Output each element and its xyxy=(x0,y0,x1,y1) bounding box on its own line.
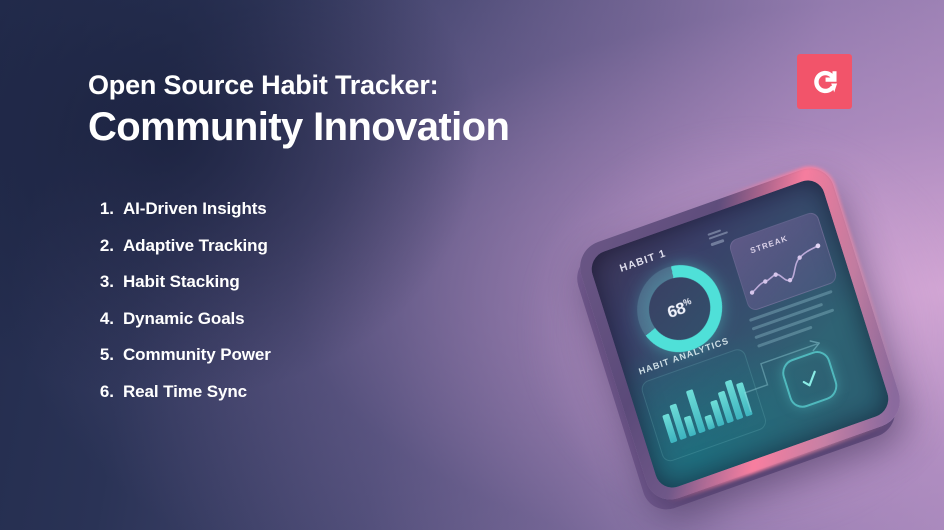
habit-title: HABIT 1 xyxy=(618,247,667,275)
content-placeholder-lines xyxy=(749,287,850,354)
donut-value: 68% xyxy=(665,296,694,321)
header-ticks xyxy=(709,231,732,250)
list-item-number: 5. xyxy=(84,345,114,365)
bar xyxy=(710,400,724,427)
list-item: 6. Real Time Sync xyxy=(84,382,414,402)
progress-donut-chart: 68% xyxy=(626,253,733,364)
title-line-1: Open Source Habit Tracker: xyxy=(88,70,708,102)
analytics-bar-chart xyxy=(657,371,752,444)
list-item-label: Real Time Sync xyxy=(123,382,247,402)
list-item-label: AI-Driven Insights xyxy=(123,199,267,219)
title-line-2: Community Innovation xyxy=(88,104,708,150)
list-item: 1. AI-Driven Insights xyxy=(84,199,414,219)
bar xyxy=(718,391,734,424)
tablet-screen: HABIT 1 68% xyxy=(587,175,893,492)
list-item-number: 6. xyxy=(84,382,114,402)
donut-center: 68% xyxy=(641,269,718,349)
list-item-label: Dynamic Goals xyxy=(123,309,245,329)
feature-list: 1. AI-Driven Insights 2. Adaptive Tracki… xyxy=(84,199,414,418)
list-item: 3. Habit Stacking xyxy=(84,272,414,292)
bar xyxy=(736,382,752,417)
streak-title: STREAK xyxy=(749,234,789,256)
list-item: 4. Dynamic Goals xyxy=(84,309,414,329)
tablet-illustration: HABIT 1 68% xyxy=(548,178,918,508)
tablet-bezel xyxy=(573,161,906,506)
bar xyxy=(725,380,743,420)
list-item-number: 1. xyxy=(84,199,114,219)
bar xyxy=(686,389,705,433)
page-title: Open Source Habit Tracker: Community Inn… xyxy=(88,70,708,150)
list-item-number: 3. xyxy=(84,272,114,292)
list-item-number: 2. xyxy=(84,236,114,256)
header-ticks-right xyxy=(707,198,812,240)
tablet-device: HABIT 1 68% xyxy=(573,161,906,506)
bar xyxy=(670,404,687,440)
list-item-label: Community Power xyxy=(123,345,271,365)
bar xyxy=(662,414,677,443)
check-icon xyxy=(795,364,825,395)
list-item-label: Adaptive Tracking xyxy=(123,236,268,256)
bar xyxy=(704,415,714,430)
g-refresh-icon xyxy=(810,67,840,97)
streak-card: STREAK xyxy=(728,210,839,312)
brand-logo xyxy=(797,54,852,109)
list-item-label: Habit Stacking xyxy=(123,272,240,292)
list-item-number: 4. xyxy=(84,309,114,329)
analytics-title: HABIT ANALYTICS xyxy=(637,335,730,376)
donut-value-number: 68 xyxy=(665,298,688,322)
tablet-edge-highlight xyxy=(571,159,909,510)
donut-value-unit: % xyxy=(682,296,692,308)
bar xyxy=(684,415,696,437)
list-item: 2. Adaptive Tracking xyxy=(84,236,414,256)
slide-canvas: Open Source Habit Tracker: Community Inn… xyxy=(0,0,944,530)
analytics-card xyxy=(639,347,768,464)
background-glow-right xyxy=(520,120,944,530)
circuit-arrow-icon xyxy=(731,319,856,423)
streak-line-chart xyxy=(739,236,832,303)
completion-check-badge xyxy=(779,347,841,411)
list-item: 5. Community Power xyxy=(84,345,414,365)
